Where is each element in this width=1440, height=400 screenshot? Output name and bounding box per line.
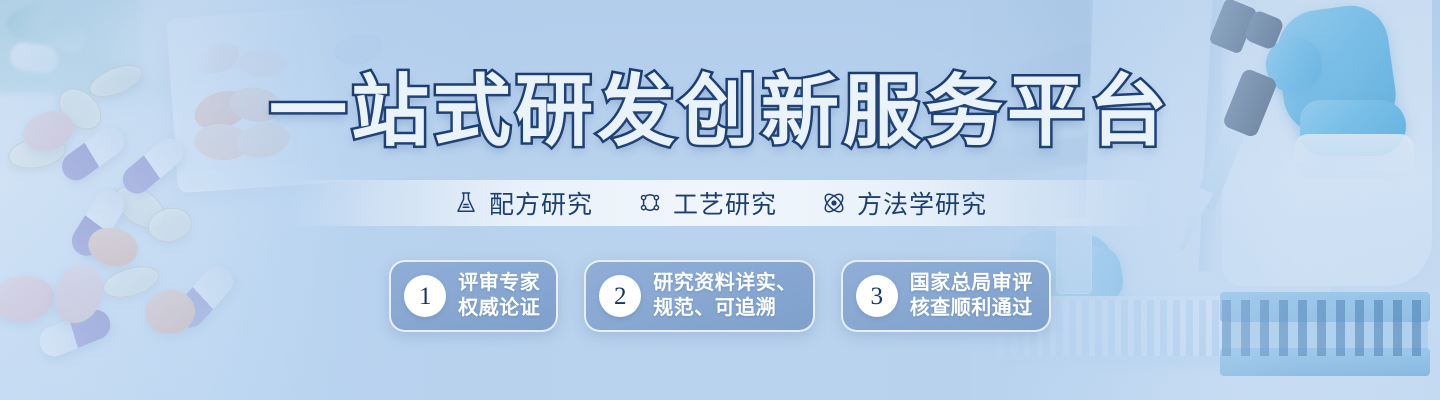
feature-text: 评审专家 权威论证 — [458, 271, 540, 321]
feature-line-2: 核查顺利通过 — [910, 296, 1033, 321]
feature-line-2: 规范、可追溯 — [653, 296, 797, 321]
feature-list: 1 评审专家 权威论证 2 研究资料详实、 规范、可追溯 3 国家总局审评 核查… — [0, 260, 1440, 332]
hero-banner: 一站式研发创新服务平台 配方研究 — [0, 0, 1440, 400]
service-item-methodology[interactable]: 方法学研究 — [821, 185, 987, 221]
page-title: 一站式研发创新服务平台 — [0, 66, 1440, 158]
service-label: 配方研究 — [489, 185, 593, 221]
feature-line-1: 国家总局审评 — [910, 271, 1033, 296]
molecule-icon — [637, 190, 663, 216]
feature-card-1[interactable]: 1 评审专家 权威论证 — [389, 260, 558, 332]
service-label: 方法学研究 — [857, 185, 987, 221]
feature-number-badge: 2 — [599, 275, 641, 317]
feature-card-2[interactable]: 2 研究资料详实、 规范、可追溯 — [584, 260, 815, 332]
feature-line-1: 研究资料详实、 — [653, 271, 797, 296]
service-list: 配方研究 工艺研究 — [0, 180, 1440, 226]
atom-icon — [821, 190, 847, 216]
feature-text: 国家总局审评 核查顺利通过 — [910, 271, 1033, 321]
flask-icon — [453, 190, 479, 216]
feature-card-3[interactable]: 3 国家总局审评 核查顺利通过 — [841, 260, 1051, 332]
feature-line-1: 评审专家 — [458, 271, 540, 296]
feature-text: 研究资料详实、 规范、可追溯 — [653, 271, 797, 321]
feature-number-badge: 3 — [856, 275, 898, 317]
feature-number-badge: 1 — [404, 275, 446, 317]
service-item-process[interactable]: 工艺研究 — [637, 185, 777, 221]
feature-line-2: 权威论证 — [458, 296, 540, 321]
service-item-formulation[interactable]: 配方研究 — [453, 185, 593, 221]
service-label: 工艺研究 — [673, 185, 777, 221]
